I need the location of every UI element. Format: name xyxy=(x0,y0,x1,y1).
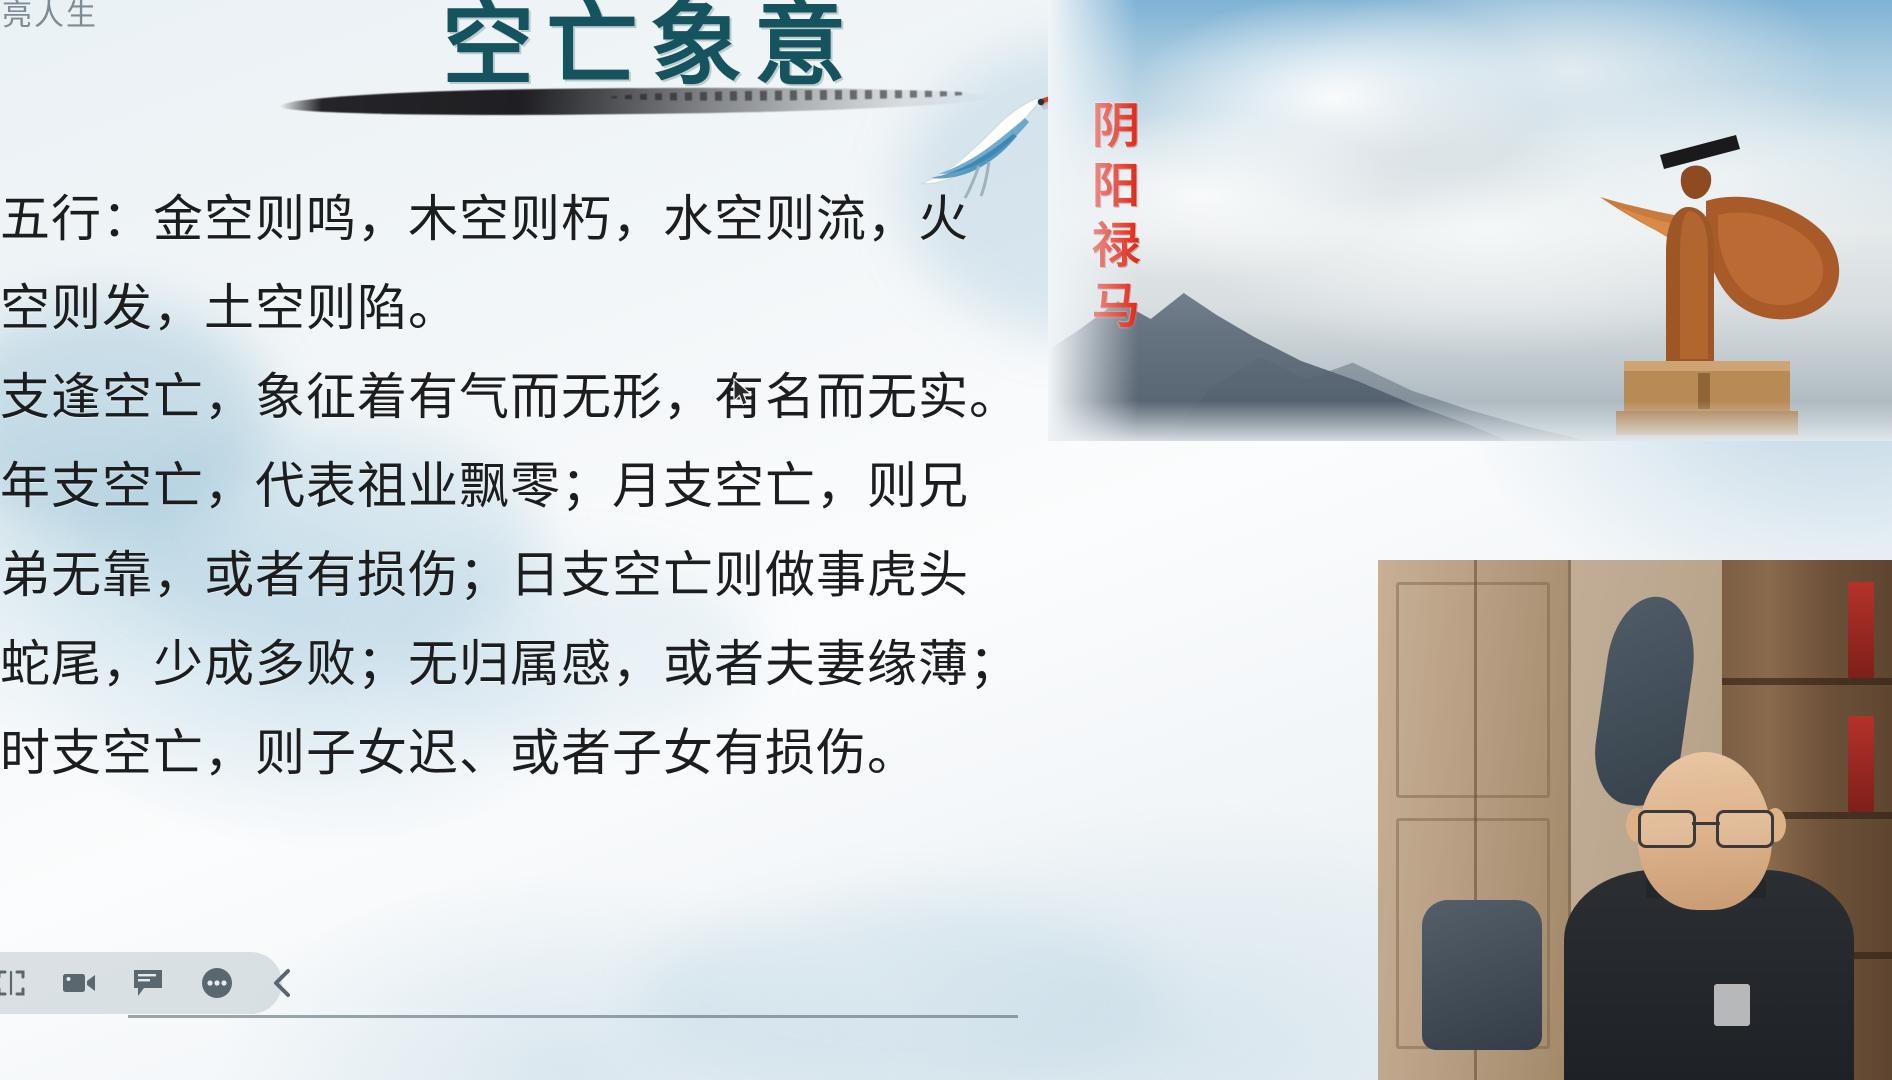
scan-frame-icon[interactable] xyxy=(0,962,26,1004)
body-line: 支逢空亡，象征着有气而无形，有名而无实。 xyxy=(0,353,950,442)
shelf-book xyxy=(1848,582,1874,678)
webcam-backpack xyxy=(1422,900,1542,1050)
body-line: 蛇尾，少成多败；无归属感，或者夫妻缘薄； xyxy=(0,620,950,709)
chat-bubble-icon[interactable] xyxy=(132,962,164,1004)
body-line: 时支空亡，则子女迟、或者子女有损伤。 xyxy=(0,709,950,798)
webcam-video-panel[interactable] xyxy=(1378,560,1892,1080)
title-block: 空亡象意 xyxy=(330,0,970,93)
body-line: 五行：金空则鸣，木空则朽，水空则流，火 xyxy=(0,175,950,264)
phoenix-statue xyxy=(1538,111,1868,441)
webcam-person xyxy=(1528,680,1888,1080)
page-title: 空亡象意 xyxy=(330,0,970,93)
bottom-toolbar xyxy=(0,952,282,1014)
body-line: 年支空亡，代表祖业飘零；月支空亡，则兄 xyxy=(0,442,950,531)
screen-root: 亮人生 空亡象意 五行：金空则鸣，木空则朽，水空则流，火 空则发，土空则陷。 支… xyxy=(0,0,1892,1080)
person-shirt-logo xyxy=(1714,984,1750,1026)
more-options-icon[interactable] xyxy=(200,962,234,1004)
photo-edge-fade xyxy=(1048,401,1892,441)
photo-edge-fade xyxy=(1048,0,1138,441)
slide-body-text: 五行：金空则鸣，木空则朽，水空则流，火 空则发，土空则陷。 支逢空亡，象征着有气… xyxy=(0,175,950,798)
glasses-lens xyxy=(1716,810,1774,848)
glasses-lens xyxy=(1638,810,1696,848)
slide-progress-line[interactable] xyxy=(128,1015,1018,1018)
body-line: 弟无靠，或者有损伤；日支空亡则做事虎头 xyxy=(0,531,950,620)
back-chevron-icon[interactable] xyxy=(270,962,294,1004)
statue-photo-card: 阴 阳 禄 马 xyxy=(1048,0,1892,441)
corner-watermark: 亮人生 xyxy=(2,0,98,34)
body-line: 空则发，土空则陷。 xyxy=(0,264,950,353)
video-camera-icon[interactable] xyxy=(62,962,96,1004)
person-glasses xyxy=(1636,810,1776,844)
